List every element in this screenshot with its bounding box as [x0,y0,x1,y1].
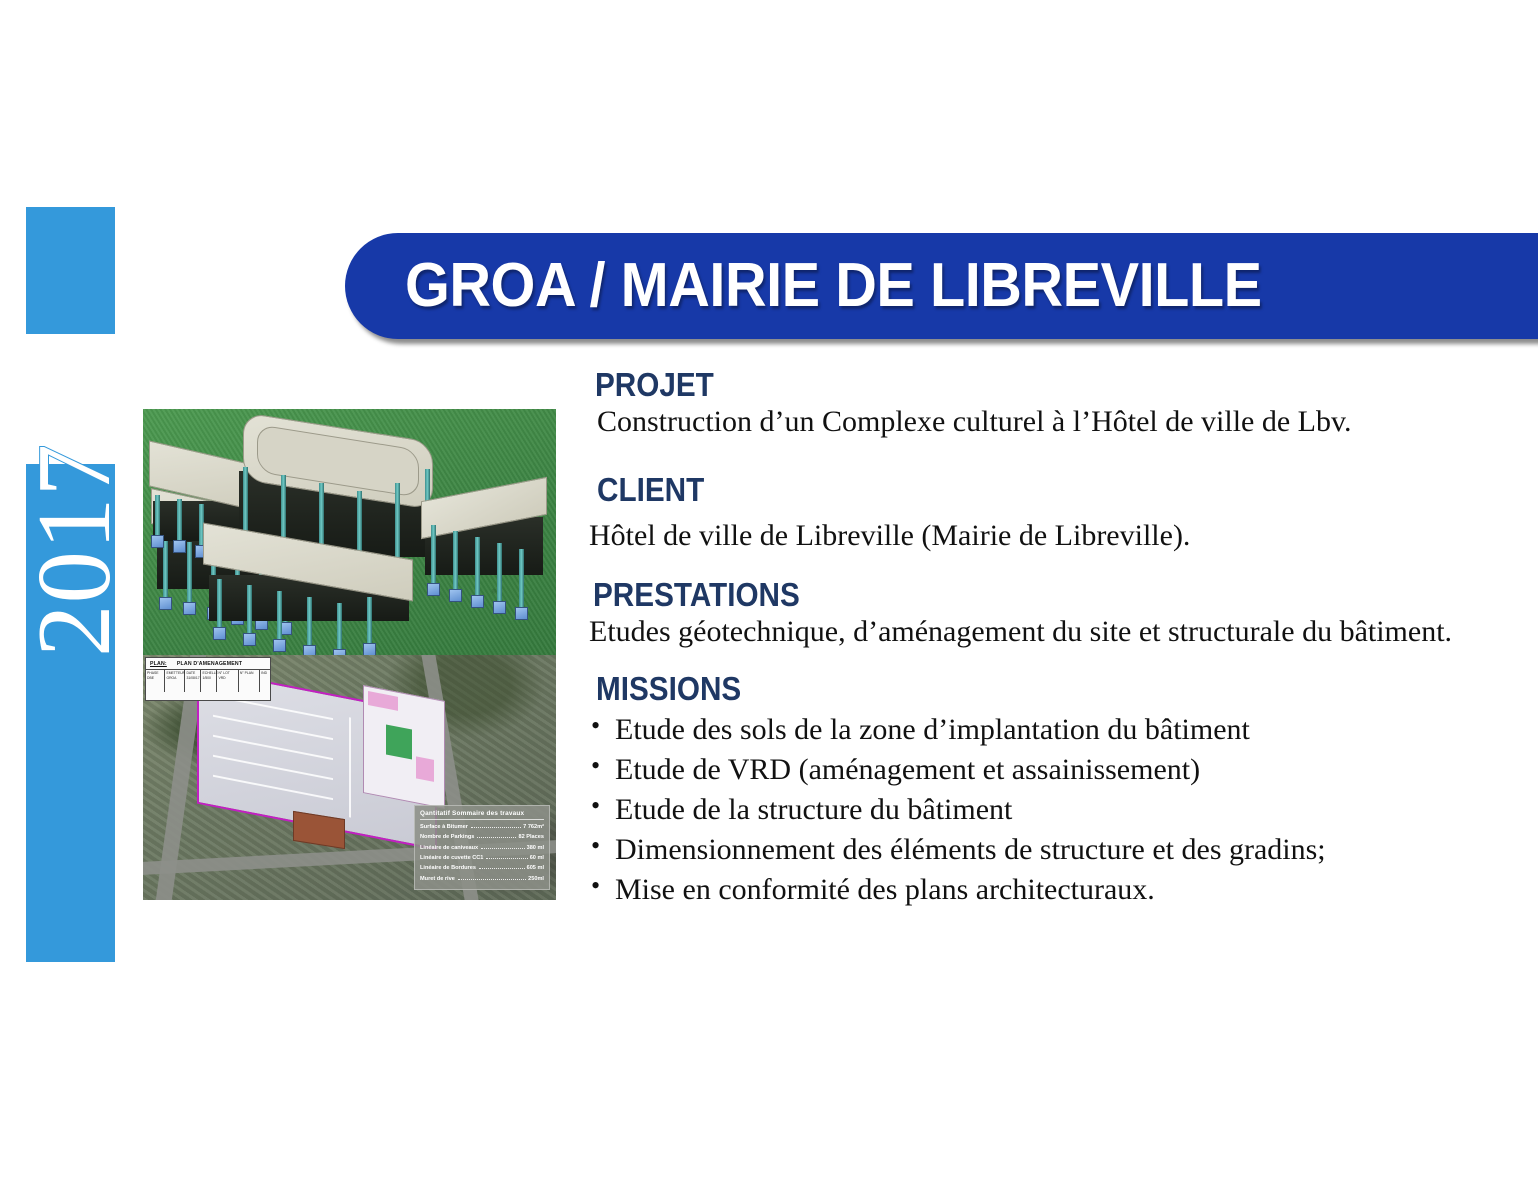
building-footprint [363,685,445,809]
works-quantities-table: Qantitatif Sommaire des travaux Surface … [414,805,550,890]
leader-dots [486,858,527,859]
rail-accent-square [26,207,115,334]
figure-column: PLAN: PLAN D'AMENAGEMENT PHASEDBE EMETTE… [143,409,556,900]
section-body-prestations: Etudes géotechnique, d’aménagement du si… [589,613,1509,651]
quantities-row: Linéaire de Bordures 605 ml [420,863,544,873]
plan-label: PLAN: [150,661,167,667]
quantities-row: Linéaire de caniveaux 380 ml [420,843,544,853]
quantities-title: Qantitatif Sommaire des travaux [420,810,544,820]
site-plan-aerial-image: PLAN: PLAN D'AMENAGEMENT PHASEDBE EMETTE… [143,655,556,900]
section-body-client: Hôtel de ville de Libreville (Mairie de … [589,517,1519,555]
section-heading-missions: MISSIONS [596,672,1427,706]
quantity-value: 60 ml [530,853,544,863]
rail-accent-bar [26,464,115,962]
section-body-projet: Construction d’un Complexe culturel à l’… [597,403,1519,441]
quantities-row: Surface à Bitumer 7 762m² [420,822,544,832]
quantities-row: Muret de rive 250ml [420,874,544,884]
slide-text-content: PROJET Construction d’un Complexe cultur… [589,368,1519,909]
leader-dots [471,827,521,828]
plan-metadata-grid: PHASEDBE EMETTEURGROA DATE31/08/17 ECHEL… [146,670,270,692]
building-3d-render-image [143,409,556,655]
list-item: Dimensionnement des éléments de structur… [589,830,1519,870]
leader-dots [481,848,524,849]
quantity-value: 7 762m² [523,822,544,832]
quantity-label: Linéaire de caniveaux [420,843,478,853]
quantity-label: Muret de rive [420,874,455,884]
plan-title-block: PLAN: PLAN D'AMENAGEMENT PHASEDBE EMETTE… [145,657,271,701]
list-item: Etude de la structure du bâtiment [589,790,1519,830]
list-item: Etude des sols de la zone d’implantation… [589,710,1519,750]
section-heading-prestations: PRESTATIONS [593,578,1426,612]
quantity-value: 380 ml [527,843,544,853]
leader-dots [479,868,525,869]
missions-list: Etude des sols de la zone d’implantation… [589,710,1519,909]
quantities-row: Nombre de Parkings 82 Places [420,832,544,842]
quantity-value: 605 ml [527,863,544,873]
page-title: GROA / MAIRIE DE LIBREVILLE [405,255,1262,317]
quantity-label: Nombre de Parkings [420,832,474,842]
plan-value: PLAN D'AMENAGEMENT [177,661,242,667]
quantities-row: Linéaire de cuvette CC1 60 ml [420,853,544,863]
quantity-value: 82 Places [518,832,544,842]
leader-dots [458,879,526,880]
leader-dots [477,837,516,838]
slide-title-banner: GROA / MAIRIE DE LIBREVILLE [345,233,1538,339]
quantity-label: Linéaire de Bordures [420,863,476,873]
quantity-label: Surface à Bitumer [420,822,468,832]
section-heading-projet: PROJET [595,368,1427,402]
list-item: Etude de VRD (aménagement et assainissem… [589,750,1519,790]
quantity-label: Linéaire de cuvette CC1 [420,853,483,863]
quantity-value: 250ml [528,874,544,884]
list-item: Mise en conformité des plans architectur… [589,870,1519,910]
section-heading-client: CLIENT [597,473,1427,507]
